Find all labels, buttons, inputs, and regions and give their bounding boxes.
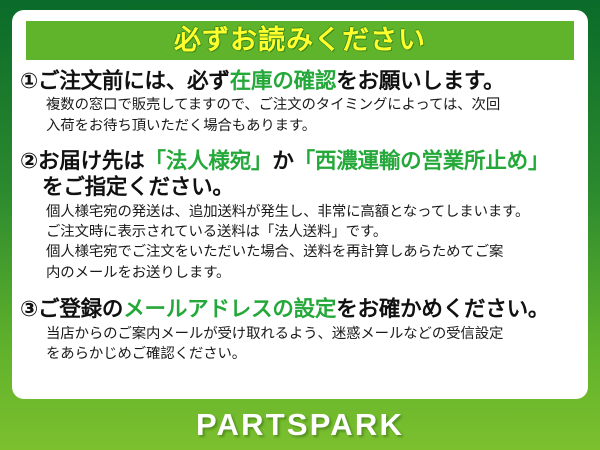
item-2-body-line-1: 個人様宅宛の発送は、追加送料が発生し、非常に高額となってしまいます。 (46, 202, 578, 222)
item-3-heading-post: をお確かめください。 (336, 297, 549, 321)
notice-items: ①ご注文前には、必ず在庫の確認をお願いします。 複数の窓口で販売してますので、ご… (12, 68, 588, 367)
item-1-body: 複数の窓口で販売してますので、ご注文のタイミングによっては、次回 入荷をお待ち頂… (20, 95, 578, 136)
notice-card: 必ずお読みください ①ご注文前には、必ず在庫の確認をお願いします。 複数の窓口で… (12, 10, 588, 399)
item-3-body-line-1: 当店からのご案内メールが受け取れるよう、迷惑メールなどの受信設定 (46, 324, 578, 344)
item-2-body: 個人様宅宛の発送は、追加送料が発生し、非常に高額となってしまいます。 ご注文時に… (20, 202, 578, 284)
item-3-heading-pre: ご登録の (38, 297, 123, 321)
item-2-marker: ② (20, 149, 38, 173)
item-3-marker: ③ (20, 297, 38, 321)
item-2-heading-pre: お届け先は (38, 149, 145, 173)
notice-title: 必ずお読みください (174, 27, 426, 54)
item-3-heading-emphasis: メールアドレスの設定 (123, 297, 336, 321)
item-2-heading-line-2: をご指定ください。 (20, 174, 578, 200)
item-1-heading-emphasis: 在庫の確認 (230, 69, 337, 93)
item-3-heading: ③ご登録のメールアドレスの設定をお確かめください。 (20, 296, 578, 322)
partspark-logo: PARTSPARK (196, 409, 404, 440)
notice-item-1: ①ご注文前には、必ず在庫の確認をお願いします。 複数の窓口で販売してますので、ご… (20, 68, 578, 136)
item-2-heading: ②お届け先は「法人様宛」か「西濃運輸の営業所止め」をご指定ください。 (20, 148, 578, 200)
footer-logo-area: PARTSPARK (0, 399, 600, 450)
item-2-heading-emphasis-2: 「西濃運輸の営業所止め」 (294, 149, 550, 173)
notice-banner: 必ずお読みください ①ご注文前には、必ず在庫の確認をお願いします。 複数の窓口で… (0, 0, 600, 450)
item-2-body-line-3: 個人様宅宛でご注文をいただいた場合、送料を再計算しあらためてご案 (46, 242, 578, 262)
notice-item-3: ③ご登録のメールアドレスの設定をお確かめください。 当店からのご案内メールが受け… (20, 296, 578, 364)
item-1-heading-post: をお願いします。 (336, 69, 504, 93)
notice-title-band: 必ずお読みください (26, 21, 574, 60)
item-1-heading: ①ご注文前には、必ず在庫の確認をお願いします。 (20, 68, 578, 94)
item-2-body-line-4: 内のメールをお送りします。 (46, 263, 578, 283)
item-1-heading-pre: ご注文前には、必ず (38, 69, 230, 93)
item-1-body-line-1: 複数の窓口で販売してますので、ご注文のタイミングによっては、次回 (46, 95, 578, 115)
item-3-body: 当店からのご案内メールが受け取れるよう、迷惑メールなどの受信設定 をあらかじめご… (20, 324, 578, 365)
item-1-marker: ① (20, 69, 38, 93)
notice-item-2: ②お届け先は「法人様宛」か「西濃運輸の営業所止め」をご指定ください。 個人様宅宛… (20, 148, 578, 283)
item-3-body-line-2: をあらかじめご確認ください。 (46, 344, 578, 364)
item-1-body-line-2: 入荷をお待ち頂いただく場合もあります。 (46, 116, 578, 136)
item-2-heading-emphasis-1: 「法人様宛」 (145, 149, 273, 173)
item-2-body-line-2: ご注文時に表示されている送料は「法人送料」です。 (46, 222, 578, 242)
item-2-heading-mid: か (272, 149, 293, 173)
